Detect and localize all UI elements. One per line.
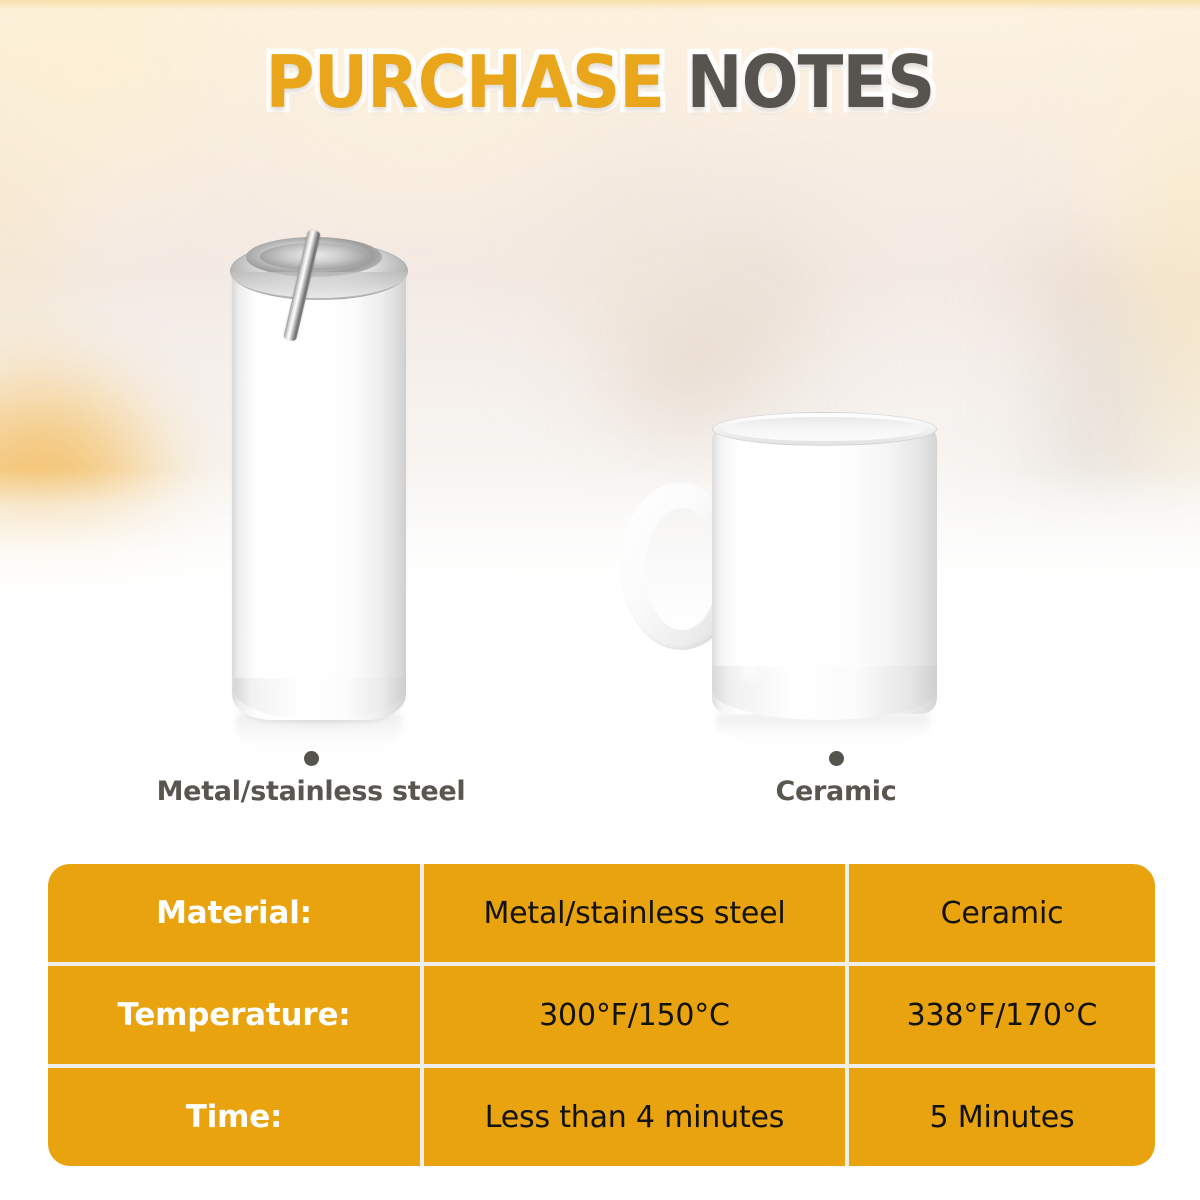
- callout-ceramic: Ceramic: [693, 751, 979, 807]
- table-row: Temperature: 300°F/150°C 338°F/170°C: [48, 962, 1155, 1064]
- mug-highlight: [736, 450, 762, 680]
- spec-table: Material: Metal/stainless steel Ceramic …: [48, 864, 1155, 1166]
- background-blur-vase-top: [1000, 220, 1200, 350]
- bullet-dot-icon: [829, 751, 844, 766]
- spec-label-text: Temperature:: [118, 997, 351, 1033]
- page-title-word-notes: NOTES: [664, 40, 934, 124]
- spec-value-text: 300°F/150°C: [539, 998, 730, 1033]
- spec-value-time-metal: Less than 4 minutes: [420, 1068, 845, 1166]
- spec-label-text: Material:: [156, 895, 312, 931]
- spec-value-material-metal: Metal/stainless steel: [420, 864, 845, 962]
- spec-value-material-ceramic: Ceramic: [845, 864, 1155, 962]
- spec-label-text: Time:: [186, 1099, 283, 1135]
- spec-value-time-ceramic: 5 Minutes: [845, 1068, 1155, 1166]
- table-row: Time: Less than 4 minutes 5 Minutes: [48, 1064, 1155, 1166]
- spec-value-text: 338°F/170°C: [907, 998, 1098, 1033]
- background-blur-jar-b: [660, 180, 850, 430]
- mug-handle-opening: [645, 508, 719, 630]
- purchase-notes-infographic: PURCHASE NOTES Metal/stainless steel Cer…: [0, 0, 1200, 1200]
- spec-value-text: 5 Minutes: [930, 1100, 1075, 1135]
- spec-value-temperature-ceramic: 338°F/170°C: [845, 966, 1155, 1064]
- callout-ceramic-label: Ceramic: [693, 776, 979, 807]
- spec-value-text: Less than 4 minutes: [485, 1100, 784, 1135]
- callout-metal-label: Metal/stainless steel: [111, 776, 511, 807]
- spec-row-label-temperature: Temperature:: [48, 966, 420, 1064]
- table-row: Material: Metal/stainless steel Ceramic: [48, 864, 1155, 962]
- page-title: PURCHASE NOTES: [42, 46, 1158, 118]
- product-image-mug: [612, 420, 962, 720]
- background-blur-warm-topleft: [0, 0, 300, 240]
- background-top-warm-band: [0, 0, 1200, 10]
- spec-value-text: Metal/stainless steel: [483, 896, 785, 931]
- page-title-word-purchase: PURCHASE: [266, 40, 665, 124]
- background-counter-surface: [0, 468, 1200, 600]
- background-blur-jar-a: [520, 120, 750, 420]
- mug-rim-interior: [724, 417, 925, 441]
- spec-value-text: Ceramic: [941, 896, 1064, 931]
- spec-row-label-material: Material:: [48, 864, 420, 962]
- callout-metal: Metal/stainless steel: [111, 751, 511, 807]
- spec-value-temperature-metal: 300°F/150°C: [420, 966, 845, 1064]
- product-image-tumbler: [224, 228, 414, 720]
- spec-row-label-time: Time:: [48, 1068, 420, 1166]
- bullet-dot-icon: [304, 751, 319, 766]
- tumbler-highlight: [254, 278, 284, 678]
